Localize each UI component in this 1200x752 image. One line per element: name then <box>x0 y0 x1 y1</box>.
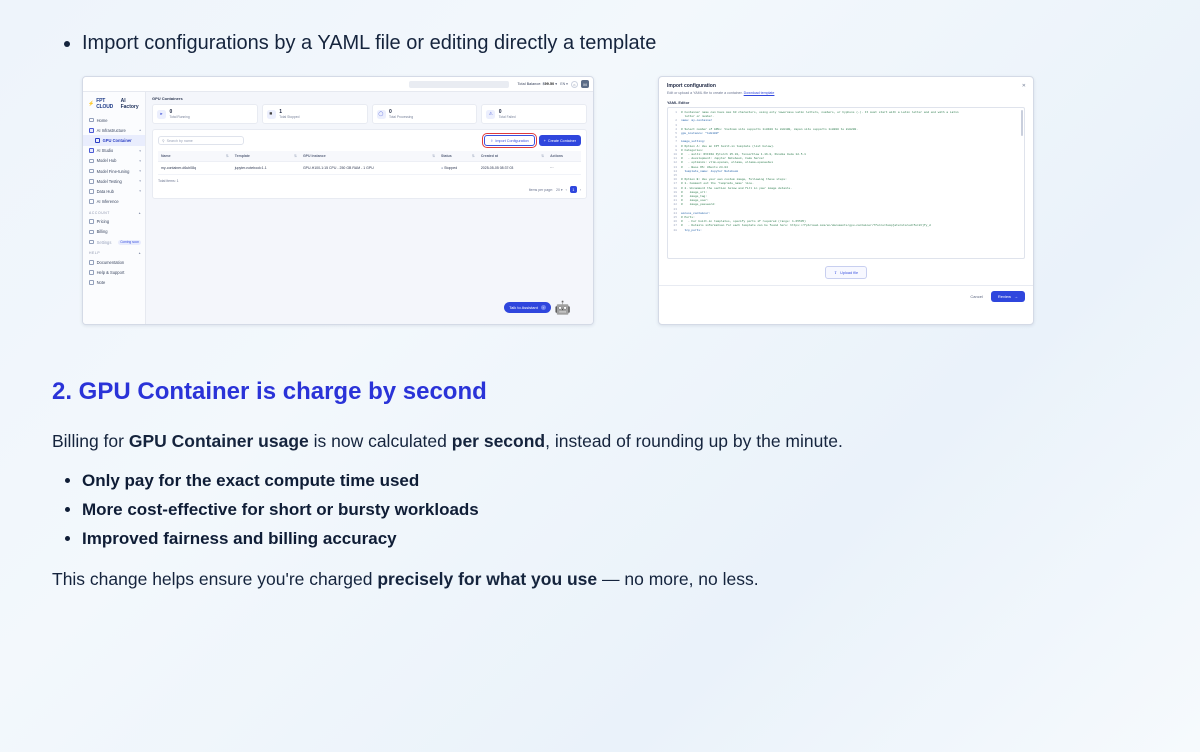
console-main: GPU Containers ▸ 0 Total Running ◾ 1 Tot… <box>146 92 593 324</box>
upload-file-button[interactable]: ⇧ Upload file <box>825 266 867 279</box>
cell-status: ● Stopped <box>438 162 478 175</box>
stat-card-total-stopped: ◾ 1 Total Stopped <box>262 104 368 124</box>
article-intro: Billing for GPU Container usage is now c… <box>52 428 1052 454</box>
chevron-down-icon: ▾ <box>139 149 141 153</box>
search-icon: ⚲ <box>162 139 165 143</box>
total-items-label: Total items: 1 <box>158 179 581 183</box>
warning-icon: ⚠ <box>486 110 495 119</box>
sidebar-item-gpu-container[interactable]: GPU Container <box>83 135 145 145</box>
stat-label: Total Running <box>170 115 190 120</box>
sidebar-item-label: Settings <box>97 240 112 245</box>
sidebar-item-label: Model Testing <box>97 179 122 184</box>
pricing-icon <box>89 219 94 224</box>
url-pill <box>409 81 509 88</box>
line-text: template_name: Jupyter Notebook <box>681 170 738 174</box>
stat-label: Total Processing <box>389 115 413 120</box>
balance-label: Total Balance: $ <box>518 82 545 86</box>
sort-icon: ⇅ <box>432 154 435 158</box>
language-selector[interactable]: EN ▾ <box>560 82 568 86</box>
download-template-link[interactable]: Download template <box>744 91 775 95</box>
sidebar-nav: Home AI Infrastructure ▴ GPU Container A… <box>83 115 145 288</box>
logo-brand: FPT CLOUD <box>96 98 118 110</box>
panel-actions: ⇧ Import Configuration + Create Containe… <box>484 135 581 146</box>
plus-icon: + <box>544 139 546 143</box>
chevron-down-icon: ▾ <box>139 169 141 173</box>
sidebar-item-model-fine-tuning[interactable]: Model Fine-tuning ▾ <box>83 166 145 176</box>
gear-icon <box>89 240 94 245</box>
sidebar-item-documentation[interactable]: Documentation <box>83 257 145 267</box>
line-text: # image_password: <box>681 203 716 207</box>
sidebar-item-label: Help & Support <box>97 270 125 275</box>
sidebar-item-pricing[interactable]: Pricing <box>83 217 145 227</box>
import-configuration-button[interactable]: ⇧ Import Configuration <box>484 135 535 146</box>
page-title: 2. GPU Container is charge by second <box>52 378 1052 406</box>
home-icon <box>89 118 94 123</box>
page-number-1[interactable]: 1 <box>570 186 577 193</box>
table-row[interactable]: my-container-d6ub08q jupyter-notebook:1.… <box>158 162 581 175</box>
column-template[interactable]: Template⇅ <box>232 151 300 162</box>
list-item: Only pay for the exact compute time used <box>82 468 1052 494</box>
review-button[interactable]: Review → <box>991 291 1025 302</box>
slide-page: Import configurations by a YAML file or … <box>0 0 1200 752</box>
yaml-code[interactable]: 1# Container name can have max 63 charac… <box>668 108 1024 236</box>
doc-icon <box>89 260 94 265</box>
column-gpu-instance[interactable]: GPU Instance⇅ <box>300 151 438 162</box>
stat-label: Total Failed <box>499 115 516 120</box>
sidebar-item-settings: Settings Coming soon <box>83 237 145 247</box>
sort-icon: ⇅ <box>541 154 544 158</box>
cancel-button[interactable]: Cancel <box>970 294 982 299</box>
create-container-button[interactable]: + Create Container <box>539 135 581 146</box>
sidebar-item-label: GPU Container <box>103 138 132 143</box>
note-icon <box>89 280 94 285</box>
chevron-up-icon: ▴ <box>139 251 141 255</box>
items-per-page-label: Items per page: <box>529 188 553 192</box>
stop-icon: ◾ <box>267 110 276 119</box>
sidebar-item-label: AI Inference <box>97 199 119 204</box>
logo-mark-icon: ⚡ <box>88 101 94 107</box>
tune-icon <box>89 169 94 174</box>
sort-icon: ⇅ <box>294 154 297 158</box>
dialog-subtitle: Edit or upload a YAML file to create a c… <box>667 91 1025 95</box>
containers-panel: ⚲ Search by name ⇧ Import Configuration … <box>152 129 587 199</box>
sidebar-item-label: Pricing <box>97 219 110 224</box>
column-name[interactable]: Name⇅ <box>158 151 232 162</box>
billing-icon <box>89 230 94 235</box>
yaml-editor-label: YAML Editor <box>659 98 1033 107</box>
line-text: # Container name can have max 63 charact… <box>681 111 959 115</box>
panel-toolbar: ⚲ Search by name ⇧ Import Configuration … <box>158 135 581 146</box>
line-number: 28 <box>668 229 681 233</box>
sidebar-item-home[interactable]: Home <box>83 115 145 125</box>
sidebar-item-ai-studio[interactable]: AI Studio ▾ <box>83 146 145 156</box>
sidebar-item-label: Model Hub <box>97 158 117 163</box>
upload-row: ⇧ Upload file <box>659 259 1033 285</box>
sidebar-item-data-hub[interactable]: Data Hub ▾ <box>83 186 145 196</box>
column-created-at[interactable]: Created at⇅ <box>478 151 547 162</box>
line-text: tcp_ports: <box>681 229 702 233</box>
cell-gpu-instance: GPU-H100-1:15 CPU - 250 GB RAM - 1 GPU <box>300 162 438 175</box>
column-actions: Actions <box>547 151 581 162</box>
chevron-down-icon: ▾ <box>139 189 141 193</box>
yaml-editor[interactable]: 1# Container name can have max 63 charac… <box>667 107 1025 259</box>
stat-card-total-running: ▸ 0 Total Running <box>152 104 258 124</box>
sort-icon: ⇅ <box>226 154 229 158</box>
breadcrumb: GPU Containers <box>146 92 593 104</box>
containers-table: Name⇅ Template⇅ GPU Instance⇅ Status⇅ Cr… <box>158 151 581 175</box>
dialog-footer: Cancel Review → <box>659 285 1033 307</box>
data-icon <box>89 189 94 194</box>
article-section: 2. GPU Container is charge by second Bil… <box>52 378 1052 606</box>
sidebar-item-label: AI Infrastructure <box>97 128 126 133</box>
dialog-header: Import configuration Edit or upload a YA… <box>659 77 1033 98</box>
intro-bullet-list: Import configurations by a YAML file or … <box>52 28 1052 58</box>
sidebar-item-label: Home <box>97 118 108 123</box>
stat-card-total-processing: ◯ 0 Total Processing <box>372 104 478 124</box>
sidebar-item-label: Billing <box>97 229 108 234</box>
column-status[interactable]: Status⇅ <box>438 151 478 162</box>
chevron-down-icon: ▾ <box>139 159 141 163</box>
sidebar-item-billing[interactable]: Billing <box>83 227 145 237</box>
chevron-right-icon: › <box>541 305 546 310</box>
sidebar-item-ai-inference[interactable]: AI Inference <box>83 197 145 207</box>
list-item: Improved fairness and billing accuracy <box>82 526 1052 552</box>
intro-bullet-item: Import configurations by a YAML file or … <box>82 28 1052 58</box>
sidebar-item-label: Model Fine-tuning <box>97 169 130 174</box>
sidebar-item-model-testing[interactable]: Model Testing ▾ <box>83 176 145 186</box>
robot-icon[interactable]: 🤖 <box>555 301 571 314</box>
sidebar-group-account: ACCOUNT ▴ <box>83 207 145 217</box>
sidebar-item-model-hub[interactable]: Model Hub ▾ <box>83 156 145 166</box>
import-configuration-dialog-screenshot: Import configuration Edit or upload a YA… <box>658 76 1034 325</box>
stat-card-total-failed: ⚠ 0 Total Failed <box>481 104 587 124</box>
bell-icon[interactable]: ☼ <box>571 81 578 88</box>
dialog-title: Import configuration <box>667 83 1025 89</box>
brand-logo: ⚡ FPT CLOUD AI Factory <box>83 95 145 115</box>
chevron-up-icon: ▴ <box>139 128 141 132</box>
console-screenshot: Total Balance: $99.50 ▾ EN ▾ ☼ M ⚡ FPT C… <box>82 76 594 325</box>
sidebar: ⚡ FPT CLOUD AI Factory Home AI Infrastru… <box>83 92 146 324</box>
sidebar-item-label: Note <box>97 280 106 285</box>
list-item: More cost-effective for short or bursty … <box>82 497 1052 523</box>
status-dot-icon: ● <box>441 166 443 170</box>
sidebar-item-note[interactable]: Note <box>83 278 145 288</box>
avatar[interactable]: M <box>581 80 589 88</box>
stat-cards: ▸ 0 Total Running ◾ 1 Total Stopped ◯ <box>146 104 593 124</box>
sidebar-item-label: AI Studio <box>97 148 114 153</box>
editor-scrollbar[interactable] <box>1021 110 1023 136</box>
sidebar-item-help-support[interactable]: Help & Support <box>83 267 145 277</box>
stat-label: Total Stopped <box>279 115 299 120</box>
play-icon: ▸ <box>157 110 166 119</box>
cell-actions[interactable]: ⋯ <box>547 162 581 175</box>
pagination: Items per page: 20 ▾ ‹ 1 › <box>158 186 581 193</box>
sidebar-group-help: HELP ▴ <box>83 247 145 257</box>
article-outro: This change helps ensure you're charged … <box>52 566 1052 592</box>
sidebar-item-ai-infrastructure[interactable]: AI Infrastructure ▴ <box>83 125 145 135</box>
container-icon <box>95 138 100 143</box>
logo-product: AI Factory <box>121 98 141 110</box>
upload-icon: ⇧ <box>834 270 837 275</box>
items-per-page-select[interactable]: 20 ▾ <box>556 188 563 192</box>
arrow-right-icon: → <box>1014 294 1018 299</box>
cell-name: my-container-d6ub08q <box>158 162 232 175</box>
prev-page-icon[interactable]: ‹ <box>566 188 567 192</box>
inference-icon <box>89 199 94 204</box>
line-text: name: my-container <box>681 119 712 123</box>
sidebar-item-label: Documentation <box>97 260 125 265</box>
line-text: # - Details information for each templat… <box>681 224 931 228</box>
search-input[interactable]: ⚲ Search by name <box>158 136 244 145</box>
sidebar-item-label: Data Hub <box>97 189 114 194</box>
studio-icon <box>89 148 94 153</box>
chevron-up-icon: ▴ <box>139 211 141 215</box>
balance-value: 99.50 <box>545 82 555 86</box>
line-text: gpu_instance: "1xH100" <box>681 132 719 136</box>
server-icon <box>89 128 94 133</box>
test-icon <box>89 179 94 184</box>
talk-to-assistant-button[interactable]: Talk to Assistant › <box>504 302 551 313</box>
search-placeholder: Search by name <box>167 139 193 143</box>
model-icon <box>89 159 94 164</box>
spinner-icon: ◯ <box>377 110 386 119</box>
cell-template: jupyter-notebook:1.1 <box>232 162 300 175</box>
table-header-row: Name⇅ Template⇅ GPU Instance⇅ Status⇅ Cr… <box>158 151 581 162</box>
close-icon[interactable]: ✕ <box>1022 83 1026 89</box>
sort-icon: ⇅ <box>472 154 475 158</box>
assistant-widget: Talk to Assistant › 🤖 <box>504 301 571 314</box>
cell-created-at: 2025-05-05 08:37:03 <box>478 162 547 175</box>
coming-soon-badge: Coming soon <box>118 240 141 245</box>
upload-icon: ⇧ <box>490 139 493 143</box>
chevron-down-icon: ▾ <box>139 179 141 183</box>
next-page-icon[interactable]: › <box>580 188 581 192</box>
balance-indicator[interactable]: Total Balance: $99.50 ▾ <box>518 82 558 86</box>
article-bullets: Only pay for the exact compute time used… <box>52 468 1052 552</box>
console-topbar: Total Balance: $99.50 ▾ EN ▾ ☼ M <box>83 77 593 92</box>
code-line: 28 tcp_ports: <box>668 229 1019 233</box>
support-icon <box>89 270 94 275</box>
